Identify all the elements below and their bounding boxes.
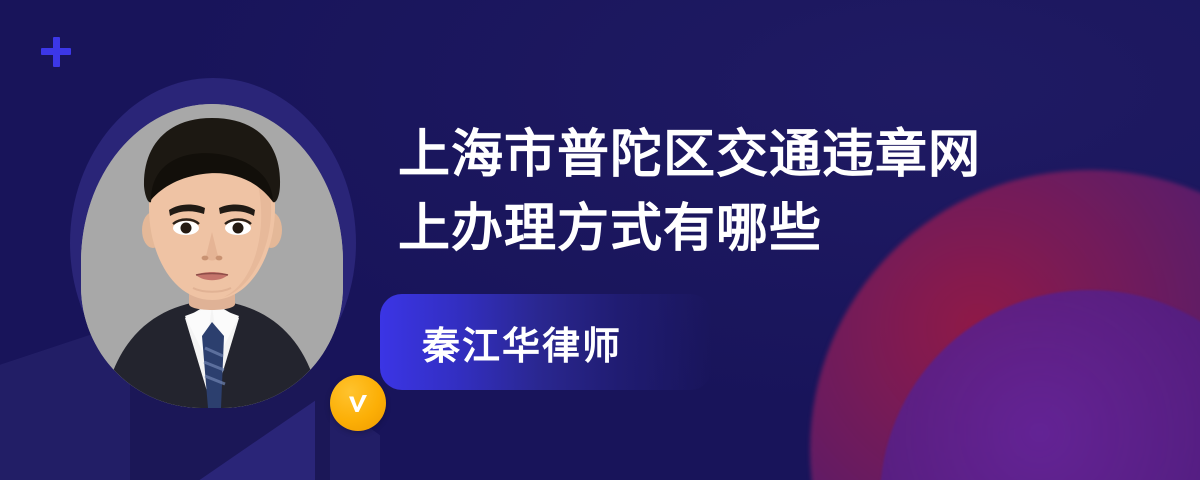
verified-badge <box>330 375 386 431</box>
decor-blob-right-inner <box>880 290 1200 480</box>
plus-icon <box>40 36 72 68</box>
article-cover-banner: 上海市普陀区交通违章网 上办理方式有哪些 秦江华律师 <box>0 0 1200 480</box>
headline-line-2: 上办理方式有哪些 <box>398 192 1098 266</box>
author-name-badge: 秦江华律师 <box>380 294 712 390</box>
avatar-photo <box>81 104 343 408</box>
author-name-label: 秦江华律师 <box>380 315 622 370</box>
avatar <box>70 78 356 408</box>
headline-line-1: 上海市普陀区交通违章网 <box>398 118 1098 192</box>
page-title: 上海市普陀区交通违章网 上办理方式有哪些 <box>398 118 1098 266</box>
